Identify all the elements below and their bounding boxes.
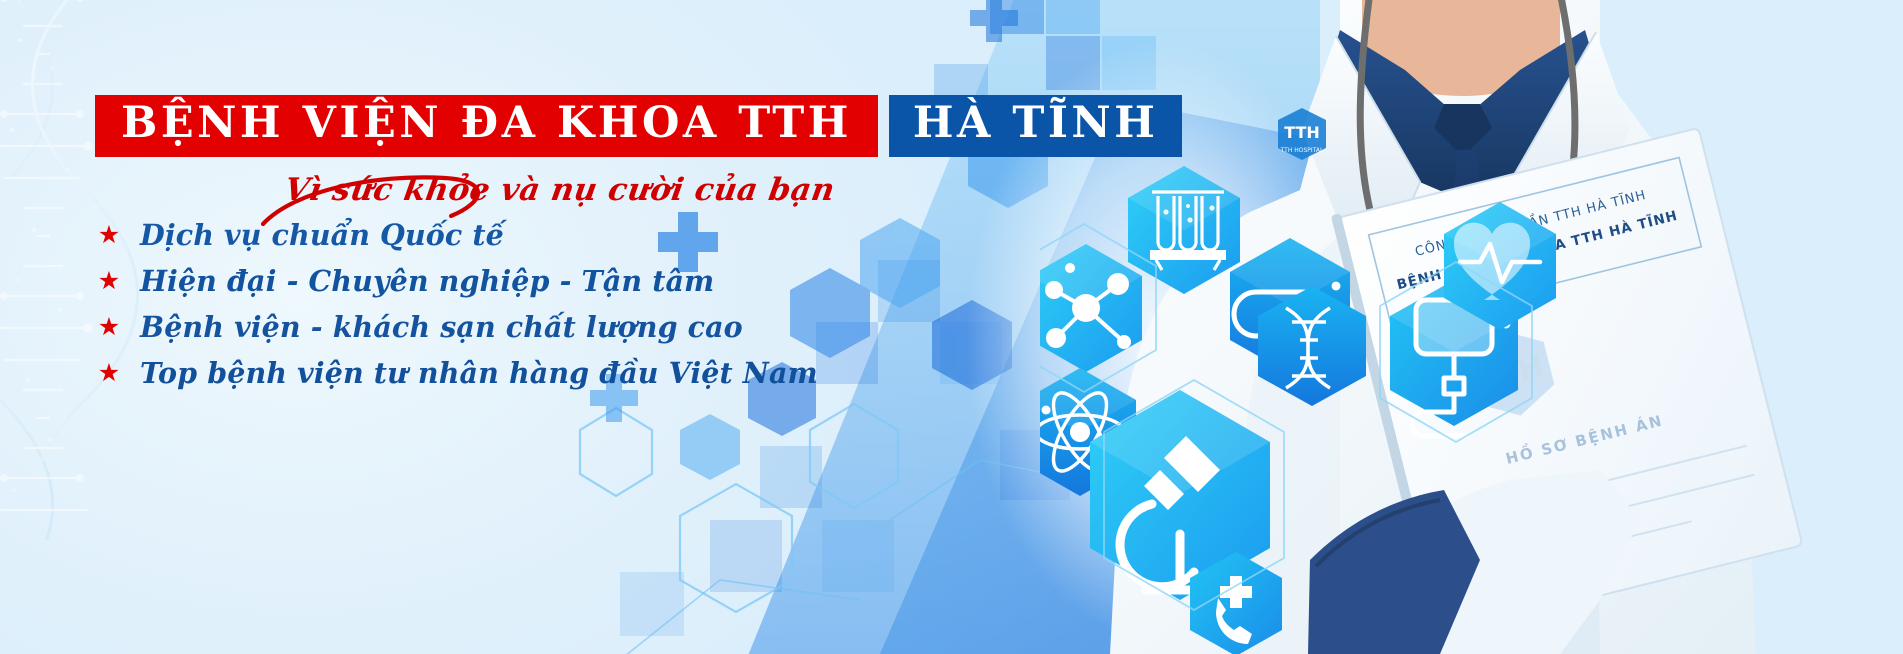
banner-title-row: BỆNH VIỆN ĐA KHOA TTH HÀ TĨNH xyxy=(95,95,1182,157)
star-icon: ★ xyxy=(92,358,126,388)
list-item: ★ Hiện đại - Chuyên nghiệp - Tận tâm xyxy=(92,258,818,304)
hospital-name-badge: BỆNH VIỆN ĐA KHOA TTH xyxy=(95,95,878,157)
list-item: ★ Bệnh viện - khách sạn chất lượng cao xyxy=(92,304,818,350)
list-item-label: Top bệnh viện tư nhân hàng đầu Việt Nam xyxy=(126,356,818,390)
list-item-label: Bệnh viện - khách sạn chất lượng cao xyxy=(126,310,743,344)
tagline-text: Vì sức khỏe và nụ cười của bạn xyxy=(282,172,837,208)
banner-text-block: BỆNH VIỆN ĐA KHOA TTH HÀ TĨNH Vì sức khỏ… xyxy=(0,0,1000,654)
list-item: ★ Dịch vụ chuẩn Quốc tế xyxy=(92,212,818,258)
svg-text:TTH: TTH xyxy=(1284,123,1320,142)
list-item-label: Hiện đại - Chuyên nghiệp - Tận tâm xyxy=(126,264,714,298)
star-icon: ★ xyxy=(92,220,126,250)
hospital-name-text: BỆNH VIỆN ĐA KHOA TTH xyxy=(121,98,852,148)
province-badge: HÀ TĨNH xyxy=(889,95,1183,157)
hospital-banner: TTH TTH HOSPITAL CÔNG TY CỔ PHẦN TTH HÀ … xyxy=(0,0,1903,654)
svg-text:TTH HOSPITAL: TTH HOSPITAL xyxy=(1280,147,1324,154)
molecule-icon xyxy=(1040,244,1142,372)
star-icon: ★ xyxy=(92,312,126,342)
list-item: ★ Top bệnh viện tư nhân hàng đầu Việt Na… xyxy=(92,350,818,396)
feature-list: ★ Dịch vụ chuẩn Quốc tế ★ Hiện đại - Chu… xyxy=(92,212,818,396)
list-item-label: Dịch vụ chuẩn Quốc tế xyxy=(126,218,504,252)
star-icon: ★ xyxy=(92,266,126,296)
province-name-text: HÀ TĨNH xyxy=(913,98,1159,148)
